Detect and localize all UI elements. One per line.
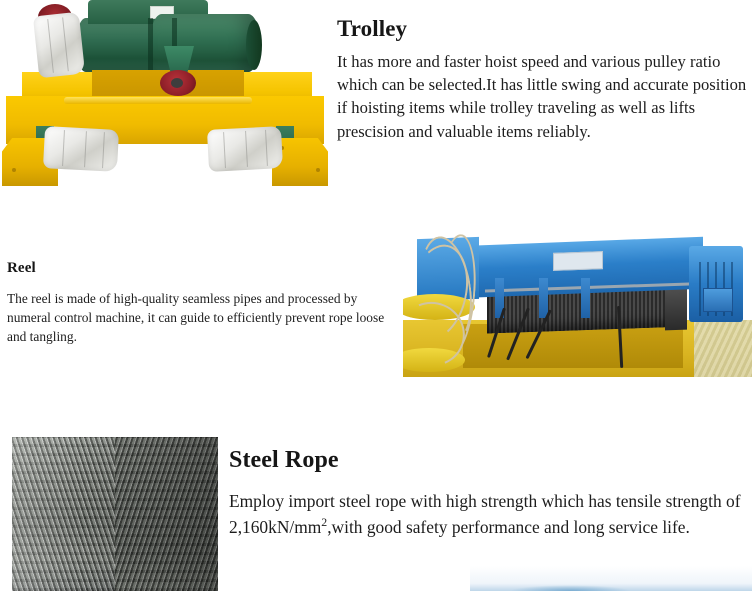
- steel-rope-photo: [12, 437, 218, 591]
- steel-rope-heading: Steel Rope: [229, 444, 749, 476]
- trolley-cross-bar: [64, 97, 252, 104]
- steel-rope-text-block: Steel Rope Employ import steel rope with…: [229, 444, 749, 540]
- product-feature-page: Trolley It has more and faster hoist spe…: [0, 0, 752, 591]
- trolley-protective-wrap: [207, 126, 283, 172]
- reel-text-block: Reel The reel is made of high-quality se…: [7, 258, 389, 347]
- trolley-gearbox: [150, 14, 260, 72]
- trolley-heading: Trolley: [337, 14, 749, 44]
- trolley-red-sheave: [160, 70, 196, 96]
- reel-photo: [403, 232, 752, 377]
- reel-heading: Reel: [7, 258, 389, 278]
- reel-description: The reel is made of high-quality seamles…: [7, 289, 389, 347]
- reel-rope-guide: [581, 278, 590, 318]
- next-image-peek: [470, 566, 752, 591]
- trolley-photo: [0, 0, 330, 186]
- steel-rope-description: Employ import steel rope with high stren…: [229, 488, 749, 540]
- trolley-description: It has more and faster hoist speed and v…: [337, 50, 749, 143]
- trolley-protective-wrap: [33, 12, 85, 78]
- steel-rope-shading: [12, 437, 218, 591]
- trolley-protective-wrap: [43, 126, 119, 172]
- reel-name-plate: [553, 251, 603, 271]
- trolley-drum-end-cap: [246, 20, 262, 70]
- reel-terminal-box: [703, 288, 733, 312]
- trolley-text-block: Trolley It has more and faster hoist spe…: [337, 14, 749, 143]
- steel-rope-description-after: ,with good safety performance and long s…: [327, 517, 690, 537]
- trolley-drum-rib: [148, 18, 153, 72]
- reel-ground-texture: [694, 320, 752, 377]
